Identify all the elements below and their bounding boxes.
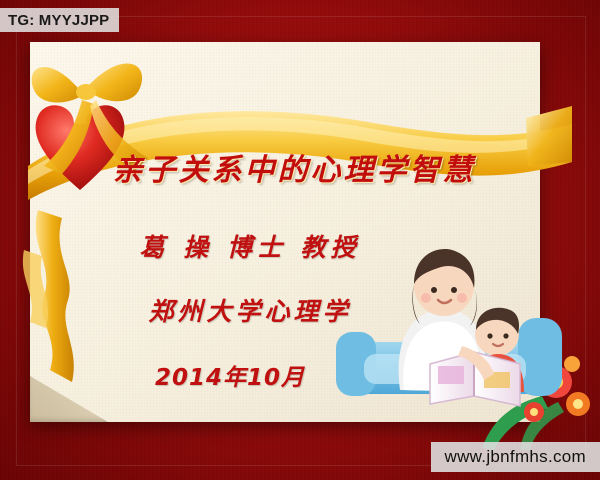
poster-screenshot: 亲子关系中的心理学智慧 葛 操 博士 教授 郑州大学心理学 2014年10月 T… bbox=[0, 0, 600, 480]
poster-affiliation: 郑州大学心理学 bbox=[80, 292, 420, 328]
website-watermark-badge: www.jbnfmhs.com bbox=[431, 442, 600, 472]
telegram-watermark-badge: TG: MYYJJPP bbox=[0, 8, 119, 32]
poster-author: 葛 操 博士 教授 bbox=[80, 228, 420, 264]
poster-title: 亲子关系中的心理学智慧 bbox=[84, 145, 504, 189]
poster-date: 2014年10月 bbox=[80, 358, 380, 392]
